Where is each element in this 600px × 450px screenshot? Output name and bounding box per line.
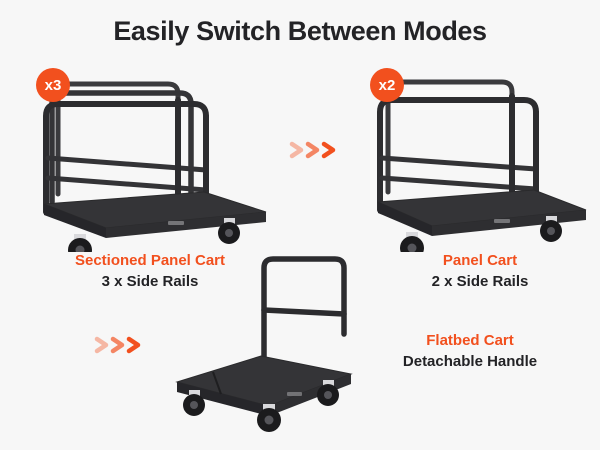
arrow-top (288, 140, 340, 160)
caption-title-panel-cart: Panel Cart (370, 252, 590, 271)
badge-rail-count-3: x3 (36, 68, 70, 102)
infographic-stage: Easily Switch Between Modes (0, 0, 600, 450)
flatbed-cart-drawing (165, 252, 360, 432)
arrow-bottom (93, 335, 145, 355)
cart-illustration-sectioned-panel-cart: x3 (28, 62, 278, 257)
cart-illustration-panel-cart: x2 (362, 62, 592, 257)
badge-rail-count-2: x2 (370, 68, 404, 102)
caption-flatbed-cart: Flatbed Cart Detachable Handle (350, 332, 590, 372)
chevrons-right-icon (288, 140, 340, 160)
caption-panel-cart: Panel Cart 2 x Side Rails (370, 252, 590, 292)
caption-sub-flatbed-cart: Detachable Handle (350, 353, 590, 372)
page-title: Easily Switch Between Modes (0, 16, 600, 47)
caption-sub-panel-cart: 2 x Side Rails (370, 273, 590, 292)
caster (68, 234, 92, 252)
chevrons-right-icon (93, 335, 145, 355)
caption-title-flatbed-cart: Flatbed Cart (350, 332, 590, 351)
cart-illustration-flatbed-cart (165, 252, 360, 437)
caster (400, 232, 424, 252)
